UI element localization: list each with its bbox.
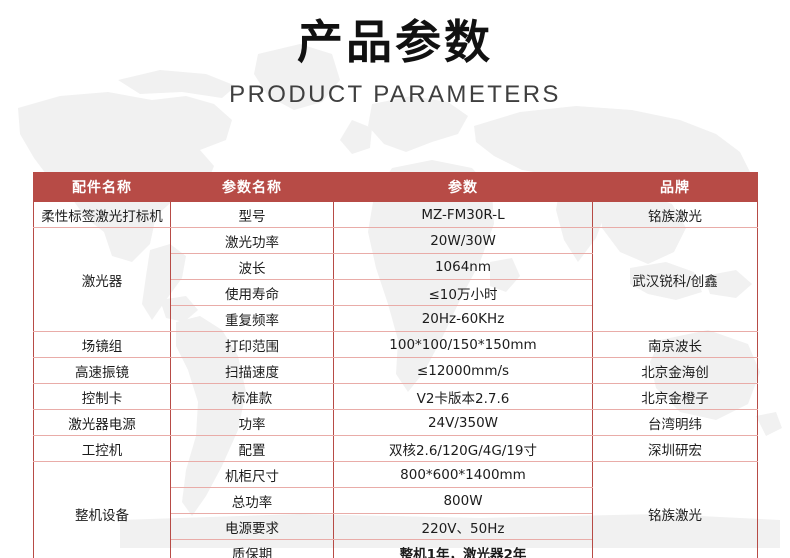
cell-param-name: 功率 (171, 410, 334, 436)
product-parameters-page: 产品参数 PRODUCT PARAMETERS 配件名称 参数名称 参数 品牌 … (0, 0, 790, 558)
cell-part-name: 场镜组 (34, 332, 171, 358)
cell-brand: 武汉锐科/创鑫 (593, 228, 758, 332)
spec-table-body: 柔性标签激光打标机型号MZ-FM30R-L铭族激光激光器激光功率20W/30W武… (34, 202, 758, 558)
table-row: 控制卡标准款V2卡版本2.7.6北京金橙子 (34, 384, 758, 410)
cell-param-name: 配置 (171, 436, 334, 462)
cell-param-value: 800W (334, 488, 593, 514)
table-row: 高速振镜扫描速度≤12000mm/s北京金海创 (34, 358, 758, 384)
page-heading: 产品参数 PRODUCT PARAMETERS (0, 0, 790, 108)
page-subtitle: PRODUCT PARAMETERS (0, 82, 790, 108)
table-row: 柔性标签激光打标机型号MZ-FM30R-L铭族激光 (34, 202, 758, 228)
column-header-param-name: 参数名称 (171, 173, 334, 202)
cell-param-name: 质保期 (171, 540, 334, 558)
table-row: 场镜组打印范围100*100/150*150mm南京波长 (34, 332, 758, 358)
spec-table-wrapper: 配件名称 参数名称 参数 品牌 柔性标签激光打标机型号MZ-FM30R-L铭族激… (33, 172, 757, 558)
cell-brand: 北京金海创 (593, 358, 758, 384)
cell-brand: 台湾明纬 (593, 410, 758, 436)
cell-param-value: 整机1年，激光器2年 (334, 540, 593, 558)
column-header-part: 配件名称 (34, 173, 171, 202)
table-row: 激光器电源功率24V/350W台湾明纬 (34, 410, 758, 436)
table-header-row: 配件名称 参数名称 参数 品牌 (34, 173, 758, 202)
cell-param-value: ≤10万小时 (334, 280, 593, 306)
cell-param-value: ≤12000mm/s (334, 358, 593, 384)
cell-param-name: 机柜尺寸 (171, 462, 334, 488)
cell-brand: 深圳研宏 (593, 436, 758, 462)
cell-param-name: 波长 (171, 254, 334, 280)
spec-table: 配件名称 参数名称 参数 品牌 柔性标签激光打标机型号MZ-FM30R-L铭族激… (33, 172, 758, 558)
cell-param-value: 800*600*1400mm (334, 462, 593, 488)
cell-param-value: 100*100/150*150mm (334, 332, 593, 358)
cell-brand: 南京波长 (593, 332, 758, 358)
page-title: 产品参数 (0, 17, 790, 69)
cell-brand: 铭族激光 (593, 202, 758, 228)
cell-part-name: 激光器 (34, 228, 171, 332)
cell-part-name: 工控机 (34, 436, 171, 462)
cell-param-name: 激光功率 (171, 228, 334, 254)
cell-brand: 铭族激光 (593, 462, 758, 558)
cell-part-name: 柔性标签激光打标机 (34, 202, 171, 228)
cell-param-value: 20Hz-60KHz (334, 306, 593, 332)
cell-part-name: 整机设备 (34, 462, 171, 558)
cell-param-value: 1064nm (334, 254, 593, 280)
cell-param-name: 使用寿命 (171, 280, 334, 306)
cell-param-name: 打印范围 (171, 332, 334, 358)
cell-param-name: 重复频率 (171, 306, 334, 332)
cell-param-name: 标准款 (171, 384, 334, 410)
cell-param-name: 总功率 (171, 488, 334, 514)
cell-param-value: 220V、50Hz (334, 514, 593, 540)
column-header-brand: 品牌 (593, 173, 758, 202)
cell-param-value: 双核2.6/120G/4G/19寸 (334, 436, 593, 462)
cell-param-name: 电源要求 (171, 514, 334, 540)
cell-param-value: 24V/350W (334, 410, 593, 436)
cell-brand: 北京金橙子 (593, 384, 758, 410)
cell-part-name: 控制卡 (34, 384, 171, 410)
cell-param-value: MZ-FM30R-L (334, 202, 593, 228)
cell-part-name: 激光器电源 (34, 410, 171, 436)
table-row: 激光器激光功率20W/30W武汉锐科/创鑫 (34, 228, 758, 254)
cell-param-value: 20W/30W (334, 228, 593, 254)
spec-table-head: 配件名称 参数名称 参数 品牌 (34, 173, 758, 202)
table-row: 整机设备机柜尺寸800*600*1400mm铭族激光 (34, 462, 758, 488)
cell-part-name: 高速振镜 (34, 358, 171, 384)
column-header-param-value: 参数 (334, 173, 593, 202)
cell-param-name: 扫描速度 (171, 358, 334, 384)
cell-param-name: 型号 (171, 202, 334, 228)
cell-param-value: V2卡版本2.7.6 (334, 384, 593, 410)
table-row: 工控机配置双核2.6/120G/4G/19寸深圳研宏 (34, 436, 758, 462)
